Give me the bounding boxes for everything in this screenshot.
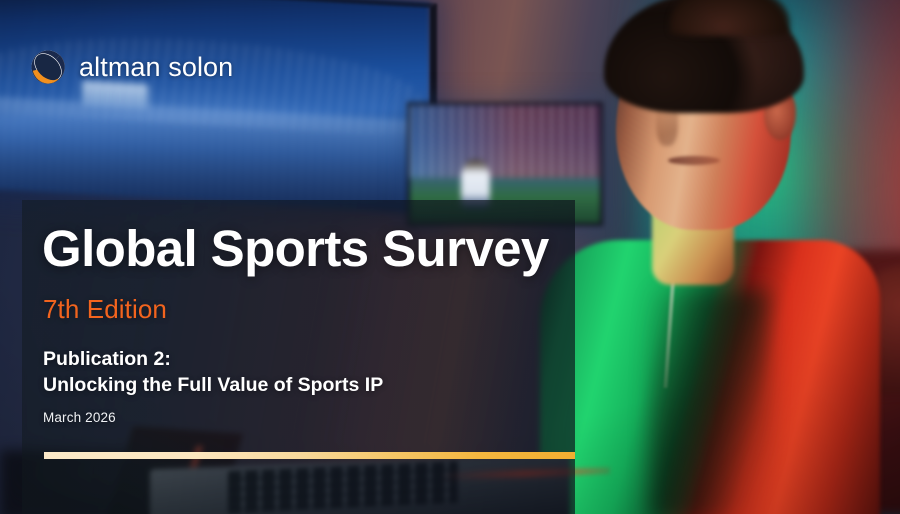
altman-solon-circle-logo-icon	[29, 48, 67, 86]
page-title: Global Sports Survey	[42, 222, 549, 276]
person-hair-tuft	[670, 0, 790, 36]
large-tv-bezel	[0, 0, 437, 218]
publication-label: Publication 2:	[43, 347, 383, 373]
presentation-cover-slide: altman solon Global Sports Survey 7th Ed…	[0, 0, 900, 514]
accent-divider-rule	[44, 452, 575, 459]
brand-logo: altman solon	[29, 48, 233, 86]
edition-label: 7th Edition	[43, 294, 167, 325]
publication-subtitle: Unlocking the Full Value of Sports IP	[43, 373, 383, 399]
brand-name: altman solon	[79, 52, 233, 83]
publication-block: Publication 2: Unlocking the Full Value …	[43, 347, 383, 398]
title-panel-content: Global Sports Survey 7th Edition Publica…	[42, 200, 575, 514]
publication-date: March 2026	[43, 410, 116, 425]
title-overlay-panel: Global Sports Survey 7th Edition Publica…	[22, 200, 575, 514]
seated-person	[520, 0, 900, 514]
person-mouth	[668, 156, 720, 165]
